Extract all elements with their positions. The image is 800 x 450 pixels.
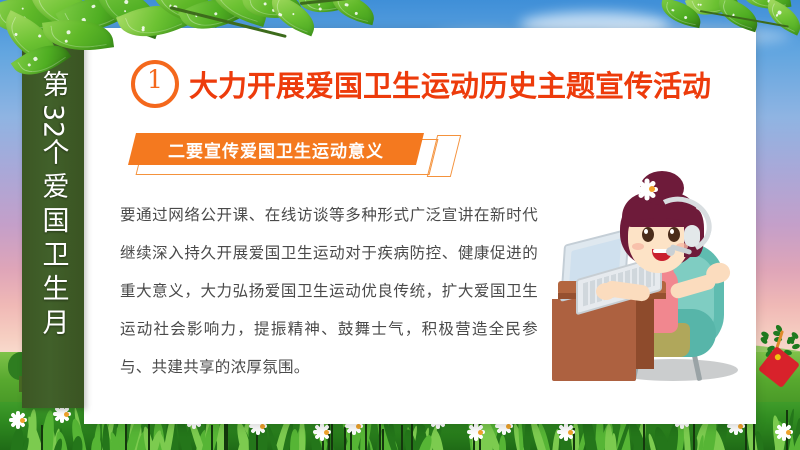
side-panel-number: 32: [38, 104, 69, 138]
dew-drop: [684, 15, 688, 19]
daisy-center: [568, 430, 573, 435]
left-hand: [596, 283, 616, 300]
page-title: 大力开展爱国卫生运动历史主题宣传活动: [189, 63, 711, 105]
side-panel: 第32个爱国卫生月: [22, 36, 84, 408]
daisy-center: [20, 418, 25, 423]
sub-banner: 二要宣传爱国卫生运动意义: [132, 133, 462, 177]
daisy-center: [478, 430, 483, 435]
flower-center: [649, 186, 655, 192]
flower-stalk: [41, 425, 43, 450]
daisy-center: [324, 430, 329, 435]
headset-mic-tip: [666, 247, 675, 256]
daisy-center: [64, 412, 69, 417]
daisy-center: [738, 424, 743, 429]
daisy-center: [260, 424, 265, 429]
daisy-center: [786, 430, 791, 435]
daisy-icon: [316, 422, 336, 442]
cheek: [632, 243, 644, 250]
hair-flower-icon: [640, 177, 664, 201]
daisy-icon: [12, 410, 32, 430]
side-panel-title: 第32个爱国卫生月: [40, 70, 67, 342]
body-paragraph: 要通过网络公开课、在线访谈等多种形式广泛宣讲在新时代继续深入持久开展爱国卫生运动…: [120, 196, 538, 386]
section-number-badge: 1: [131, 60, 179, 108]
side-panel-prefix: 第: [38, 70, 69, 104]
flower-stalk: [224, 424, 226, 450]
daisy-icon: [560, 422, 580, 442]
sub-banner-label: 二要宣传爱国卫生运动意义: [132, 133, 420, 165]
headset-earpiece-icon: [684, 225, 700, 247]
dew-drop: [318, 7, 322, 11]
daisy-icon: [470, 422, 490, 442]
slide-canvas: 第32个爱国卫生月 1 大力开展爱国卫生运动历史主题宣传活动 二要宣传爱国卫生运…: [0, 0, 800, 450]
illustration-woman-at-laptop: [548, 163, 768, 398]
flower-stalk: [401, 425, 403, 450]
dew-drop: [263, 2, 267, 6]
side-panel-suffix: 个爱国卫生月: [38, 138, 69, 342]
title-row: 1 大力开展爱国卫生运动历史主题宣传活动: [131, 60, 731, 108]
flower-stalk: [211, 425, 213, 450]
grass-blade: [499, 435, 506, 450]
desk-body: [552, 299, 636, 381]
daisy-icon: [778, 422, 798, 442]
desk-side: [636, 299, 654, 369]
flower-stalk: [382, 429, 384, 450]
daisy-center: [506, 424, 511, 429]
daisy-center: [356, 424, 361, 429]
